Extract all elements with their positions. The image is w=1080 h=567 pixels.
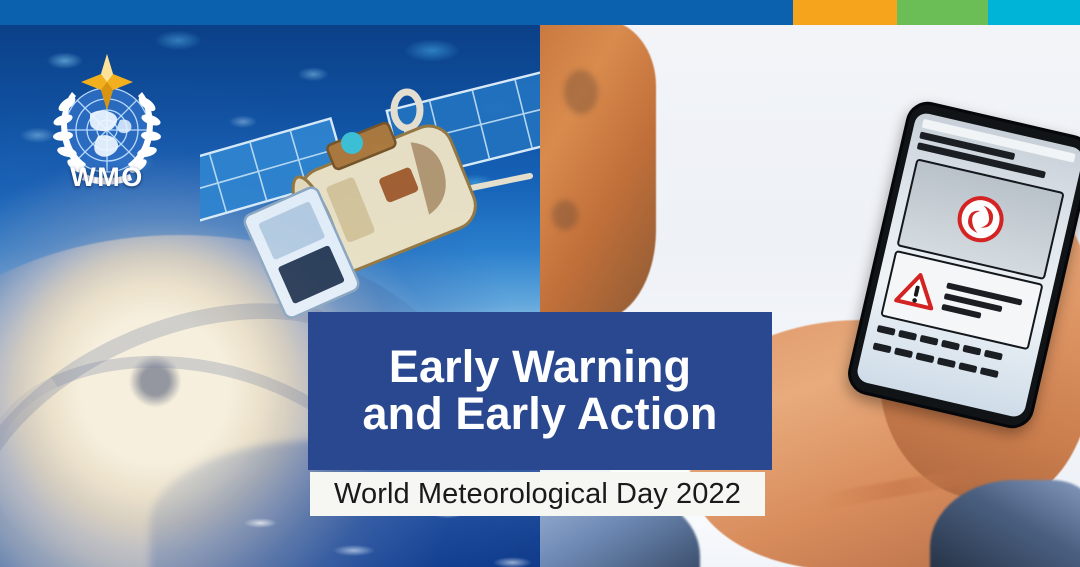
topbar-segment-cyan — [988, 0, 1080, 25]
alert-message-lines — [940, 278, 1030, 334]
forearm — [540, 20, 656, 320]
topbar-segment-green — [897, 0, 988, 25]
top-color-bar — [0, 0, 1080, 25]
title-banner: Early Warning and Early Action — [308, 312, 772, 470]
topbar-segment-orange — [793, 0, 897, 25]
subtitle-text: World Meteorological Day 2022 — [334, 478, 741, 511]
warning-triangle-icon — [894, 268, 941, 312]
title-line-1: Early Warning — [389, 344, 691, 391]
wmo-label: WMO — [32, 162, 182, 193]
subtitle-banner: World Meteorological Day 2022 — [310, 472, 765, 516]
weather-satellite — [200, 50, 540, 320]
poster-canvas: WMO Early Warning and Early Action World… — [0, 0, 1080, 567]
title-line-2: and Early Action — [362, 391, 717, 438]
topbar-segment-blue — [0, 0, 793, 25]
cyclone-icon — [952, 190, 1010, 248]
